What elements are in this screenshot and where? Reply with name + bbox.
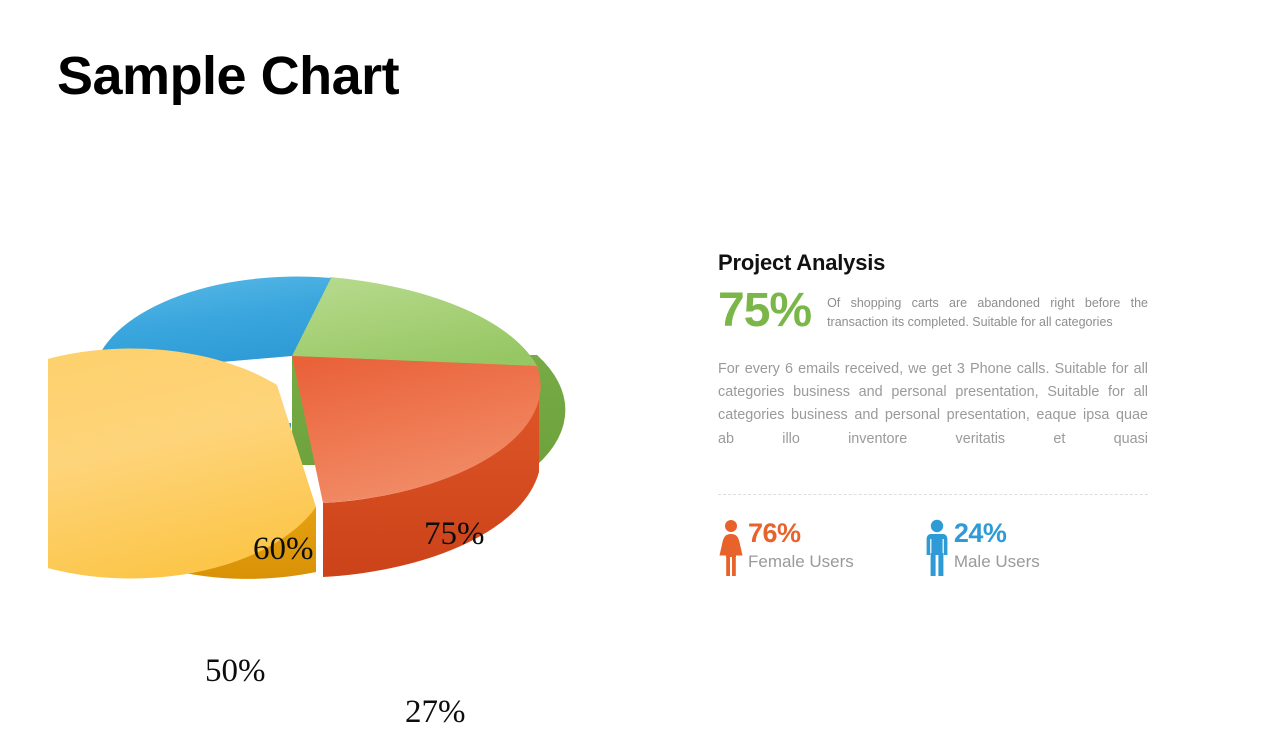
female-user-icon [718, 519, 744, 577]
body-paragraph: For every 6 emails received, we get 3 Ph… [718, 358, 1148, 475]
pie-label-yellow: 50% [205, 653, 266, 690]
info-panel: Project Analysis 75% Of shopping carts a… [718, 250, 1148, 577]
page-title: Sample Chart [57, 48, 399, 105]
pie-chart[interactable]: 60% 75% 27% 50% [48, 250, 568, 670]
stat-male-label: Male Users [954, 551, 1040, 572]
stat-male-percentage: 24% [954, 519, 1040, 547]
user-stats: 76% Female Users 24% Male Users [718, 519, 1148, 577]
stat-female-text: 76% Female Users [748, 519, 854, 572]
pie-label-red: 27% [405, 694, 466, 731]
male-user-icon [924, 519, 950, 577]
pie-label-blue: 60% [253, 531, 314, 568]
pie-label-green: 75% [424, 516, 485, 553]
highlight-description: Of shopping carts are abandoned right be… [827, 290, 1148, 333]
highlight-row: 75% Of shopping carts are abandoned righ… [718, 290, 1148, 334]
section-divider [718, 494, 1148, 495]
panel-heading: Project Analysis [718, 250, 1148, 276]
stat-female-users[interactable]: 76% Female Users [718, 519, 854, 577]
stat-male-users[interactable]: 24% Male Users [924, 519, 1040, 577]
stat-male-text: 24% Male Users [954, 519, 1040, 572]
pie-slice-green-top-fill [292, 278, 538, 368]
highlight-percentage: 75% [718, 288, 811, 334]
stat-female-percentage: 76% [748, 519, 854, 547]
slide-canvas: Sample Chart [0, 0, 1280, 720]
stat-female-label: Female Users [748, 551, 854, 572]
pie-chart-graphic [48, 250, 568, 670]
